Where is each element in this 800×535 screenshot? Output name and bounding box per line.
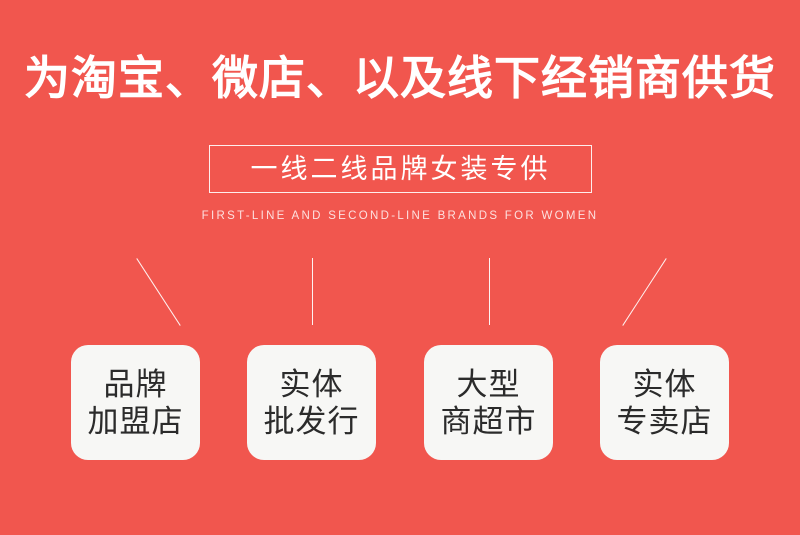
subtitle-chinese: 一线二线品牌女装专供 bbox=[251, 156, 551, 183]
card-label-line2: 专卖店 bbox=[617, 403, 713, 440]
card-label-line1: 品牌 bbox=[104, 366, 168, 403]
connector-vertical-left bbox=[312, 258, 313, 325]
card-large-supermarket[interactable]: 大型商超市 bbox=[424, 345, 553, 460]
page-title: 为淘宝、微店、以及线下经销商供货 bbox=[0, 50, 800, 106]
card-physical-store[interactable]: 实体专卖店 bbox=[600, 345, 729, 460]
subtitle-box: 一线二线品牌女装专供 bbox=[209, 145, 592, 193]
card-label-line1: 大型 bbox=[457, 366, 521, 403]
card-physical-wholesale[interactable]: 实体批发行 bbox=[247, 345, 376, 460]
card-label-line1: 实体 bbox=[633, 366, 697, 403]
card-label-line2: 批发行 bbox=[264, 403, 360, 440]
connector-diagonal-right bbox=[622, 258, 666, 326]
subtitle-english: FIRST-LINE AND SECOND-LINE BRANDS FOR WO… bbox=[0, 210, 800, 222]
card-label-line2: 加盟店 bbox=[88, 403, 184, 440]
card-label-line2: 商超市 bbox=[441, 403, 537, 440]
connector-vertical-right bbox=[489, 258, 490, 325]
connector-diagonal-left bbox=[136, 258, 180, 326]
card-label-line1: 实体 bbox=[280, 366, 344, 403]
card-brand-franchise[interactable]: 品牌加盟店 bbox=[71, 345, 200, 460]
promo-banner: 为淘宝、微店、以及线下经销商供货 一线二线品牌女装专供 FIRST-LINE A… bbox=[0, 0, 800, 535]
